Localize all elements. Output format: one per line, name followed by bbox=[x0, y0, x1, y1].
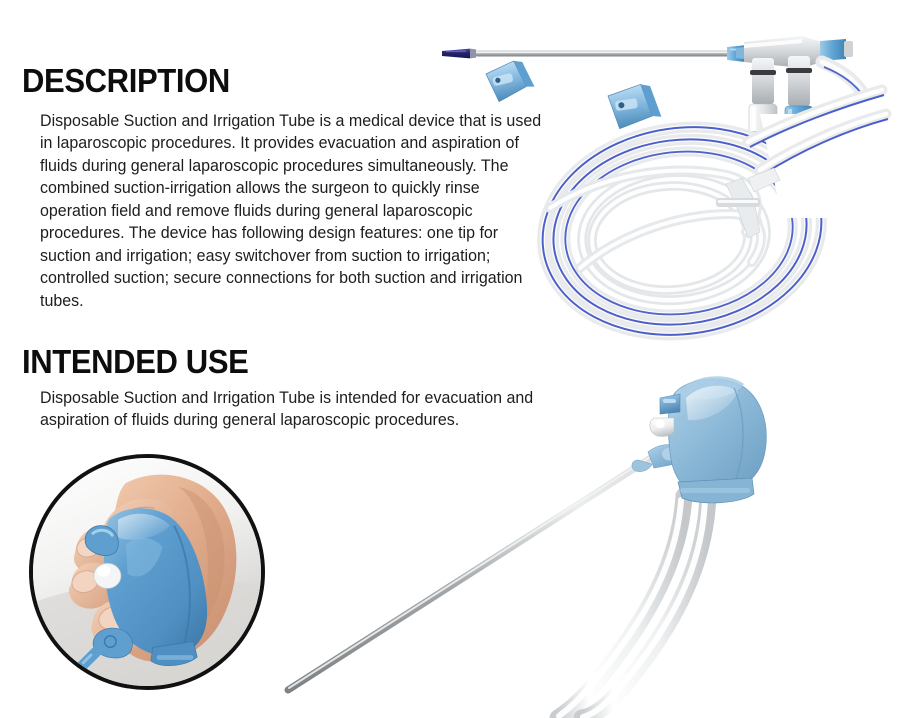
figure-bottom-device bbox=[282, 368, 903, 718]
roller-clamp bbox=[485, 58, 536, 104]
figure-top-device bbox=[430, 18, 903, 348]
coiled-tubing-set bbox=[485, 58, 903, 353]
white-trigger-button bbox=[650, 418, 674, 437]
roller-clamp bbox=[607, 82, 662, 130]
hand-photo-inset bbox=[29, 454, 265, 690]
document-page: DESCRIPTION Disposable Suction and Irrig… bbox=[0, 0, 903, 718]
cannula-shaft-bottom bbox=[288, 455, 654, 690]
blue-trigger-button bbox=[660, 394, 680, 414]
blue-handle-bottom bbox=[632, 376, 766, 503]
blue-distal-tip bbox=[442, 49, 476, 59]
description-heading: DESCRIPTION bbox=[22, 64, 230, 99]
white-trigger-button-inset bbox=[94, 563, 121, 588]
intended-use-heading: INTENDED USE bbox=[22, 345, 248, 380]
cannula-shaft-top bbox=[474, 51, 730, 57]
